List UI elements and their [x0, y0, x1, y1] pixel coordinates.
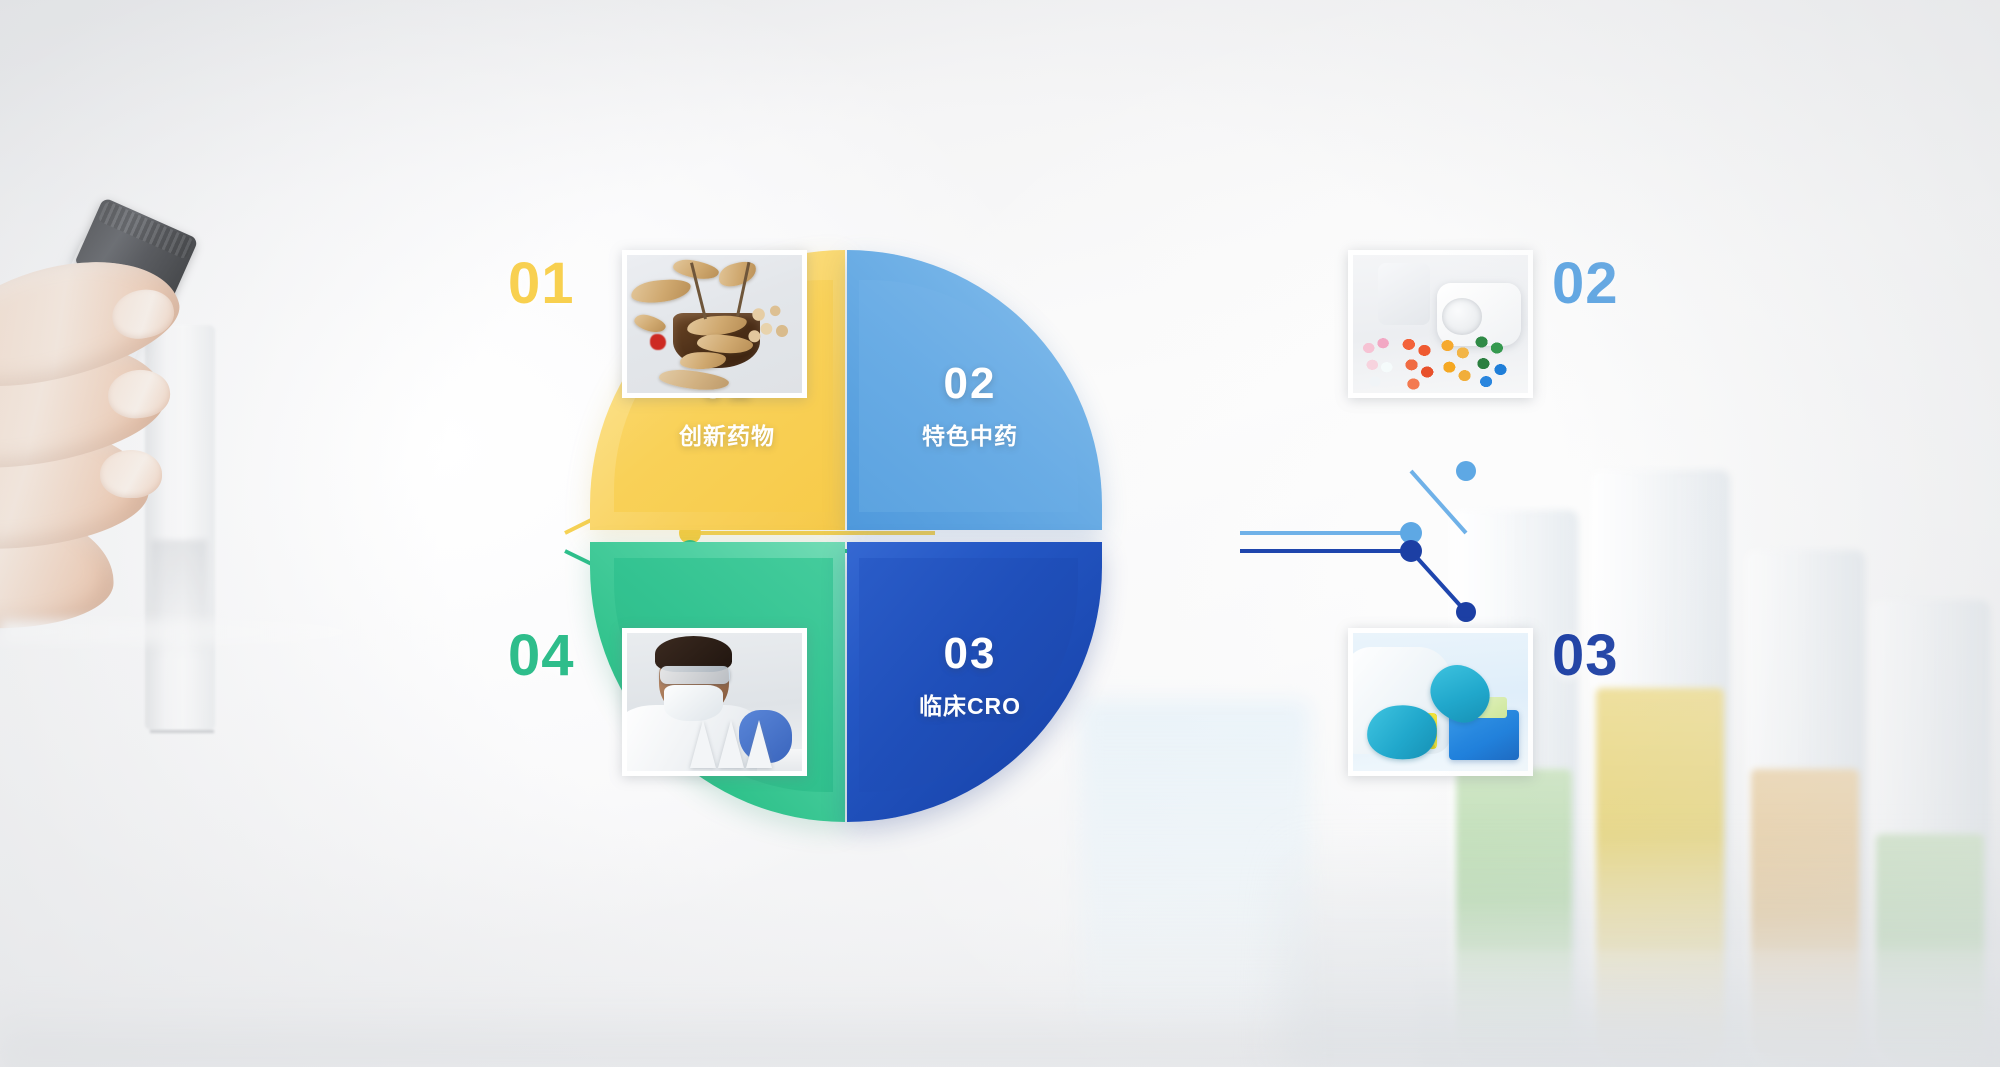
thumbnail-04-scientist-lab[interactable] [622, 628, 807, 776]
colorful-pills-image [1353, 255, 1528, 393]
quadrant-02-text: 02 特色中药 [895, 362, 1045, 451]
background-rack [1420, 950, 2000, 1067]
infographic-stage: 01 创新药物 02 特色中药 04 药效毒理 [0, 0, 2000, 1067]
quadrant-03-text: 03 临床CRO [895, 632, 1045, 721]
rack-markings [150, 730, 214, 820]
background-blur-panel [1080, 700, 1310, 1030]
quadrant-03-clinical-cro[interactable]: 03 临床CRO [847, 542, 1102, 822]
badge-01: 01 [508, 250, 575, 317]
lab-gloves-tray-image [1353, 633, 1528, 771]
quadrant-03-number: 03 [895, 632, 1045, 676]
fingernail [100, 450, 162, 498]
badge-02: 02 [1552, 250, 1619, 317]
quadrant-02-specialty-tcm[interactable]: 02 特色中药 [847, 250, 1102, 530]
herbal-roots-image [627, 255, 802, 393]
quadrant-02-label: 特色中药 [895, 417, 1045, 451]
quadrant-02-number: 02 [895, 362, 1045, 406]
quadrant-wheel: 01 创新药物 02 特色中药 04 药效毒理 [835, 250, 1095, 820]
scientist-lab-image [627, 633, 802, 771]
quadrant-03-label: 临床CRO [895, 687, 1045, 721]
thumbnail-03-lab-gloves-tray[interactable] [1348, 628, 1533, 776]
hand-with-test-tube-scene [0, 250, 480, 730]
thumbnail-01-herbal-roots[interactable] [622, 250, 807, 398]
badge-04: 04 [508, 622, 575, 689]
badge-03: 03 [1552, 622, 1619, 689]
thumbnail-02-colorful-pills[interactable] [1348, 250, 1533, 398]
quadrant-01-label: 创新药物 [652, 417, 802, 451]
